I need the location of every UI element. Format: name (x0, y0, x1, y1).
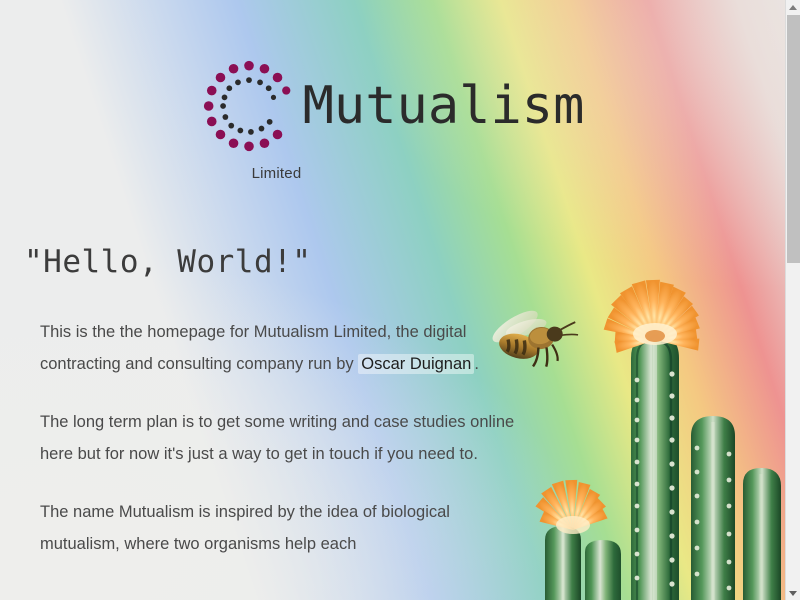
triangle-down-icon (789, 591, 797, 596)
scroll-down-button[interactable] (786, 586, 800, 600)
mutualism-dot-ring-logo-icon (201, 58, 297, 154)
logo-inner-ring (220, 77, 276, 135)
oscar-duignan-link[interactable]: Oscar Duignan (358, 354, 474, 374)
scroll-up-button[interactable] (786, 0, 800, 14)
browser-viewport: Mutualism Limited "Hello, World!" This i… (0, 0, 800, 600)
paragraph-plan: The long term plan is to get some writin… (40, 406, 520, 470)
paragraph-name-origin: The name Mutualism is inspired by the id… (40, 496, 520, 560)
site-header: Mutualism Limited (0, 58, 785, 182)
page-content: Mutualism Limited "Hello, World!" This i… (0, 0, 785, 600)
vertical-scrollbar[interactable] (785, 0, 800, 600)
vertical-scrollbar-thumb[interactable] (787, 15, 800, 263)
wordmark-text: Mutualism (303, 80, 585, 132)
logo-lockup[interactable]: Mutualism (201, 58, 585, 154)
page-title: "Hello, World!" (24, 244, 544, 280)
intro-text-after-link: . (474, 355, 479, 373)
tagline-text: Limited (0, 165, 785, 182)
logo-outer-ring (203, 61, 289, 151)
triangle-up-icon (789, 5, 797, 10)
main-prose: "Hello, World!" This is the the homepage… (24, 244, 544, 560)
paragraph-intro: This is the the homepage for Mutualism L… (40, 316, 520, 380)
